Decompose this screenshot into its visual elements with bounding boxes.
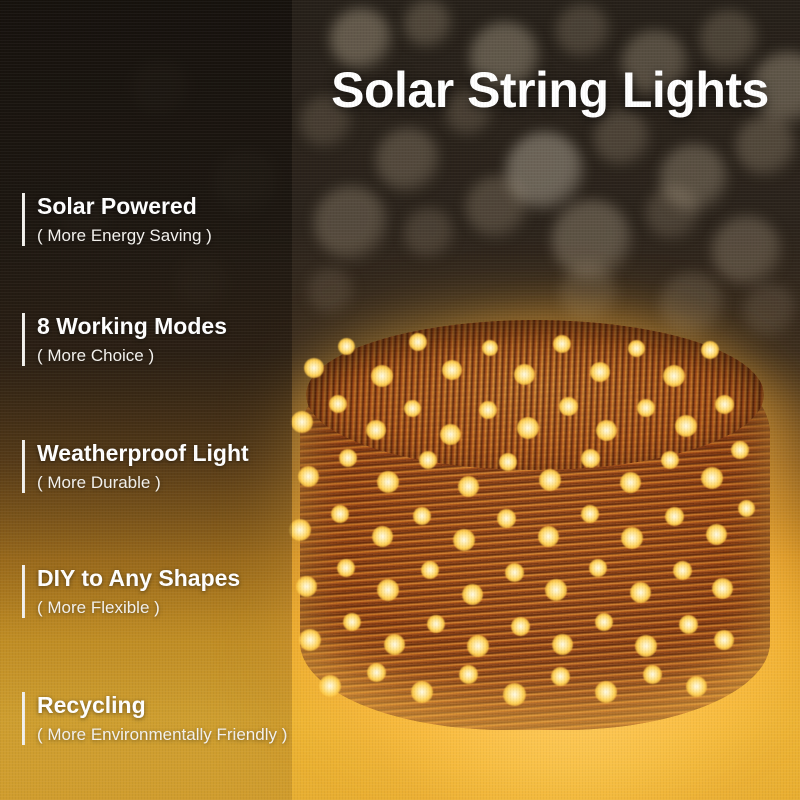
feature-title: Recycling: [37, 692, 287, 718]
feature-item: Recycling( More Environmentally Friendly…: [22, 692, 287, 745]
feature-subtitle: ( More Durable ): [37, 473, 249, 493]
feature-subtitle: ( More Flexible ): [37, 598, 240, 618]
product-promo-banner: Solar String Lights Solar Powered( More …: [0, 0, 800, 800]
page-title: Solar String Lights: [320, 64, 780, 117]
feature-item: Solar Powered( More Energy Saving ): [22, 193, 212, 246]
feature-item: 8 Working Modes( More Choice ): [22, 313, 227, 366]
feature-item: Weatherproof Light( More Durable ): [22, 440, 249, 493]
feature-title: 8 Working Modes: [37, 313, 227, 339]
coil-top-ellipse: [306, 320, 764, 470]
feature-subtitle: ( More Choice ): [37, 346, 227, 366]
feature-title: DIY to Any Shapes: [37, 565, 240, 591]
feature-subtitle: ( More Energy Saving ): [37, 226, 212, 246]
product-image-string-light-coil: [300, 330, 770, 730]
feature-title: Solar Powered: [37, 193, 212, 219]
feature-item: DIY to Any Shapes( More Flexible ): [22, 565, 240, 618]
feature-title: Weatherproof Light: [37, 440, 249, 466]
feature-list: Solar Powered( More Energy Saving )8 Wor…: [0, 0, 300, 800]
feature-subtitle: ( More Environmentally Friendly ): [37, 725, 287, 745]
